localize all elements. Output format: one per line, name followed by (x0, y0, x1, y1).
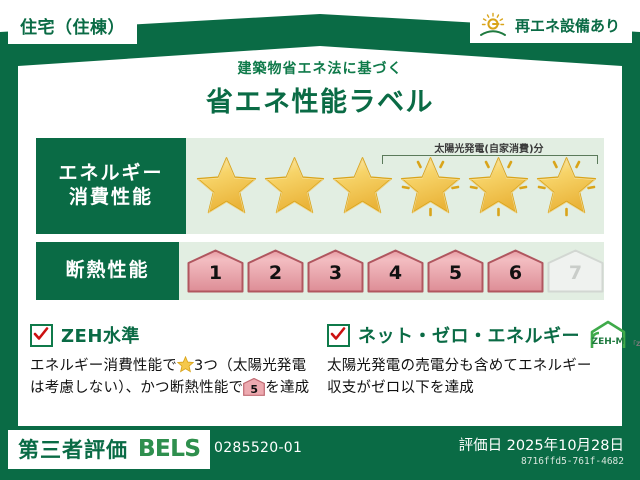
insulation-grade-3: 3 (307, 249, 364, 293)
claim-nze-header: ネット・ゼロ・エネルギー ZEH-M 「ZEH-M」 (327, 322, 610, 348)
claim-net-zero-energy: ネット・ゼロ・エネルギー ZEH-M 「ZEH-M」 太陽光発電の売電分も含めて… (327, 322, 610, 400)
svg-text:ZEH-M: ZEH-M (592, 337, 625, 347)
grade-number: 6 (487, 262, 544, 284)
insulation-grade-1: 1 (187, 249, 244, 293)
building-type-tab: 住宅（住棟） (8, 8, 137, 44)
energy-performance-label: 住宅（住棟） 再エネ設備あり 建築物省エネ法に基づく 省エ (0, 0, 640, 480)
grade-number: 2 (247, 262, 304, 284)
footer: 第三者評価 BELS 0285520-01 評価日 2025年10月28日 87… (0, 426, 640, 480)
star-rating (186, 153, 600, 219)
claim-zeh-header: ZEH水準 (30, 322, 313, 348)
star-base (260, 153, 328, 219)
claim-zeh-body: エネルギー消費性能で3つ（太陽光発電 は考慮しない）、かつ断熱性能で5を達成 (30, 355, 313, 400)
checkbox-net-zero (327, 324, 350, 347)
insulation-caption-line1: 断熱性能 (65, 259, 149, 283)
insulation-performance-caption: 断熱性能 (36, 242, 179, 300)
sun-icon (478, 12, 508, 38)
claim-zeh-standard: ZEH水準 エネルギー消費性能で3つ（太陽光発電 は考慮しない）、かつ断熱性能で… (30, 322, 313, 400)
energy-performance-row: エネルギー 消費性能 太陽光発電(自家消費)分 (36, 138, 604, 234)
energy-stars-area: 太陽光発電(自家消費)分 (186, 138, 604, 234)
third-party-label: 第三者評価 (18, 434, 128, 464)
energy-caption-line2: 消費性能 (69, 186, 153, 210)
label-subtitle: 建築物省エネ法に基づく (0, 58, 640, 78)
evaluation-date: 評価日 2025年10月28日 (459, 434, 624, 455)
insulation-grade-2: 2 (247, 249, 304, 293)
grade-number: 4 (367, 262, 424, 284)
insulation-grade-5: 5 (427, 249, 484, 293)
check-icon (330, 326, 346, 342)
grade-number: 1 (187, 262, 244, 284)
grade-number: 7 (547, 262, 604, 284)
claim-zeh-text-4: を達成 (265, 380, 309, 396)
insulation-performance-row: 断熱性能 1 2 (36, 242, 604, 300)
star-solar (464, 153, 532, 219)
grade-number: 3 (307, 262, 364, 284)
inline-grade-number: 5 (243, 381, 265, 398)
building-type-label: 住宅（住棟） (20, 18, 125, 38)
claim-zeh-text-2: 3つ（太陽光発電 (194, 358, 306, 374)
claims-section: ZEH水準 エネルギー消費性能で3つ（太陽光発電 は考慮しない）、かつ断熱性能で… (30, 322, 610, 400)
label-uuid: 8716ffd5-761f-4682 (521, 456, 624, 467)
renewable-badge-label: 再エネ設備あり (515, 15, 620, 36)
certificate-number: 0285520-01 (214, 440, 302, 456)
star-solar (396, 153, 464, 219)
renewable-equipment-badge: 再エネ設備あり (470, 8, 632, 43)
zeh-m-house-icon: ZEH-M (588, 320, 628, 350)
grade-number: 5 (427, 262, 484, 284)
energy-performance-caption: エネルギー 消費性能 (36, 138, 186, 234)
claim-zeh-title: ZEH水準 (61, 322, 140, 348)
star-base (328, 153, 396, 219)
insulation-grade-scale: 1 2 3 (179, 249, 604, 293)
energy-caption-line1: エネルギー (58, 162, 163, 186)
insulation-grade-6: 6 (487, 249, 544, 293)
check-icon (33, 326, 49, 342)
star-base (192, 153, 260, 219)
insulation-grade-4: 4 (367, 249, 424, 293)
insulation-grade-7: 7 (547, 249, 604, 293)
bels-logo-text: BELS (138, 436, 200, 462)
zeh-m-logo: ZEH-M 「ZEH-M」 (588, 320, 640, 350)
insulation-grades-area: 1 2 3 (179, 242, 604, 300)
star-icon (177, 356, 194, 373)
bels-badge: 第三者評価 BELS (8, 430, 210, 469)
claim-zeh-text-1: エネルギー消費性能で (30, 358, 177, 374)
checkbox-zeh (30, 324, 53, 347)
star-solar (532, 153, 600, 219)
claim-nze-text-2: 収支がゼロ以下を達成 (327, 380, 474, 396)
zeh-m-caption: 「ZEH-M」 (630, 339, 640, 350)
inline-grade-badge: 5 (243, 378, 265, 396)
claim-nze-title: ネット・ゼロ・エネルギー (358, 322, 580, 348)
label-title: 省エネ性能ラベル (0, 80, 640, 119)
claim-nze-text-1: 太陽光発電の売電分も含めてエネルギー (327, 358, 592, 374)
claim-nze-body: 太陽光発電の売電分も含めてエネルギー 収支がゼロ以下を達成 (327, 355, 610, 400)
claim-zeh-text-3: は考慮しない）、かつ断熱性能で (30, 380, 243, 396)
